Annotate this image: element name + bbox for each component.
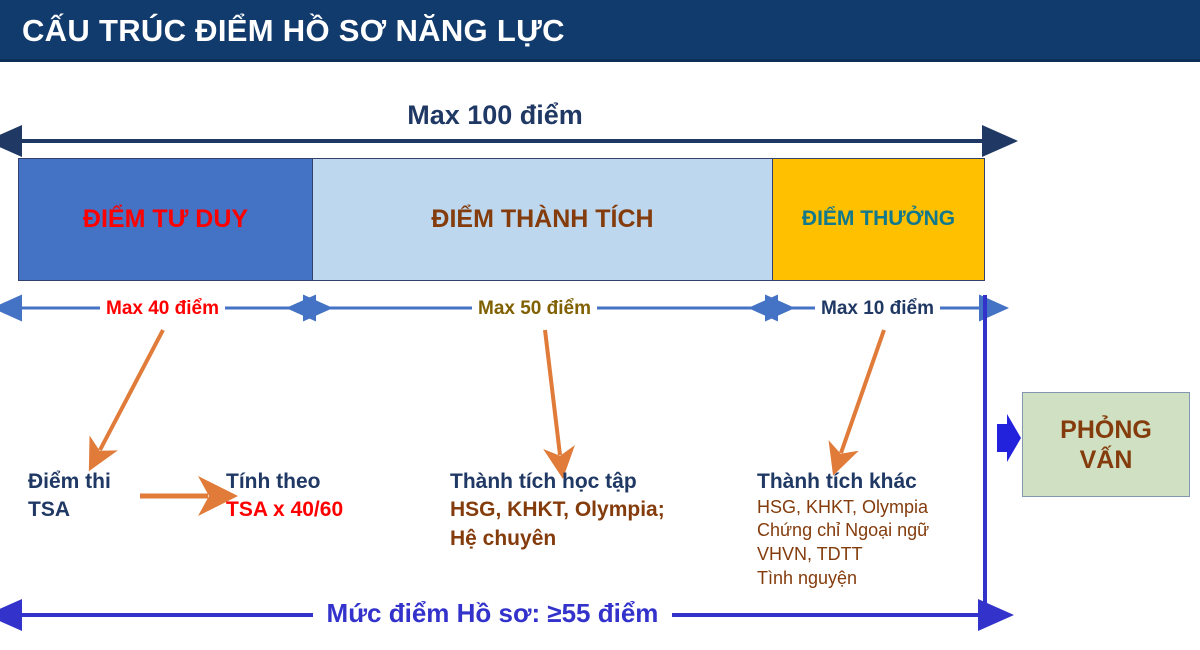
header-banner: CẤU TRÚC ĐIỂM HỒ SƠ NĂNG LỰC bbox=[0, 0, 1200, 62]
bar-segment-thuong[interactable]: ĐIỂM THƯỞNG bbox=[773, 159, 984, 280]
detail-khac-line5: Tình nguyện bbox=[757, 567, 929, 591]
detail-khac-line2: HSG, KHKT, Olympia bbox=[757, 496, 929, 520]
detail-khac-line3: Chứng chỉ Ngoại ngữ bbox=[757, 519, 929, 543]
detail-hoc-tap-line3: Hệ chuyên bbox=[450, 525, 665, 553]
interview-label-line2: VẤN bbox=[1060, 445, 1152, 475]
total-max-label: Max 100 điểm bbox=[0, 100, 990, 131]
block-arrow-to-interview bbox=[997, 414, 1021, 462]
detail-formula: Tính theo TSA x 40/60 bbox=[226, 468, 343, 523]
bar-segment-tu-duy-label: ĐIỂM TƯ DUY bbox=[83, 205, 248, 234]
detail-tsa-line2: TSA bbox=[28, 496, 111, 524]
max-label-thanh-tich: Max 50 điểm bbox=[472, 298, 597, 320]
detail-tsa-line1: Điểm thi bbox=[28, 468, 111, 496]
orange-pointer-thuong bbox=[841, 330, 884, 453]
bar-segment-tu-duy[interactable]: ĐIỂM TƯ DUY bbox=[19, 159, 313, 280]
bottom-threshold-label: Mức điểm Hồ sơ: ≥55 điểm bbox=[0, 598, 985, 629]
orange-pointer-tu-duy bbox=[100, 330, 163, 450]
bottom-threshold-text: Mức điểm Hồ sơ: ≥55 điểm bbox=[313, 598, 673, 628]
bar-segment-thuong-label: ĐIỂM THƯỞNG bbox=[802, 207, 955, 231]
score-bar: ĐIỂM TƯ DUY ĐIỂM THÀNH TÍCH ĐIỂM THƯỞNG bbox=[18, 158, 985, 281]
interview-label-line1: PHỎNG bbox=[1060, 415, 1152, 445]
detail-tsa: Điểm thi TSA bbox=[28, 468, 111, 523]
max-label-thuong: Max 10 điểm bbox=[815, 298, 940, 320]
detail-formula-line1: Tính theo bbox=[226, 468, 343, 496]
bar-segment-thanh-tich-label: ĐIỂM THÀNH TÍCH bbox=[431, 205, 653, 234]
detail-khac: Thành tích khác HSG, KHKT, Olympia Chứng… bbox=[757, 468, 929, 591]
detail-hoc-tap: Thành tích học tập HSG, KHKT, Olympia; H… bbox=[450, 468, 665, 553]
header-underline bbox=[0, 59, 1200, 62]
detail-formula-line2: TSA x 40/60 bbox=[226, 496, 343, 524]
detail-khac-line4: VHVN, TDTT bbox=[757, 543, 929, 567]
page-title: CẤU TRÚC ĐIỂM HỒ SƠ NĂNG LỰC bbox=[0, 13, 565, 49]
detail-khac-line1: Thành tích khác bbox=[757, 468, 929, 496]
detail-hoc-tap-line2: HSG, KHKT, Olympia; bbox=[450, 496, 665, 524]
bar-segment-thanh-tich[interactable]: ĐIỂM THÀNH TÍCH bbox=[313, 159, 773, 280]
interview-box[interactable]: PHỎNG VẤN bbox=[1022, 392, 1190, 497]
orange-pointer-thanh-tich bbox=[545, 330, 560, 455]
max-label-tu-duy: Max 40 điểm bbox=[100, 298, 225, 320]
detail-hoc-tap-line1: Thành tích học tập bbox=[450, 468, 665, 496]
